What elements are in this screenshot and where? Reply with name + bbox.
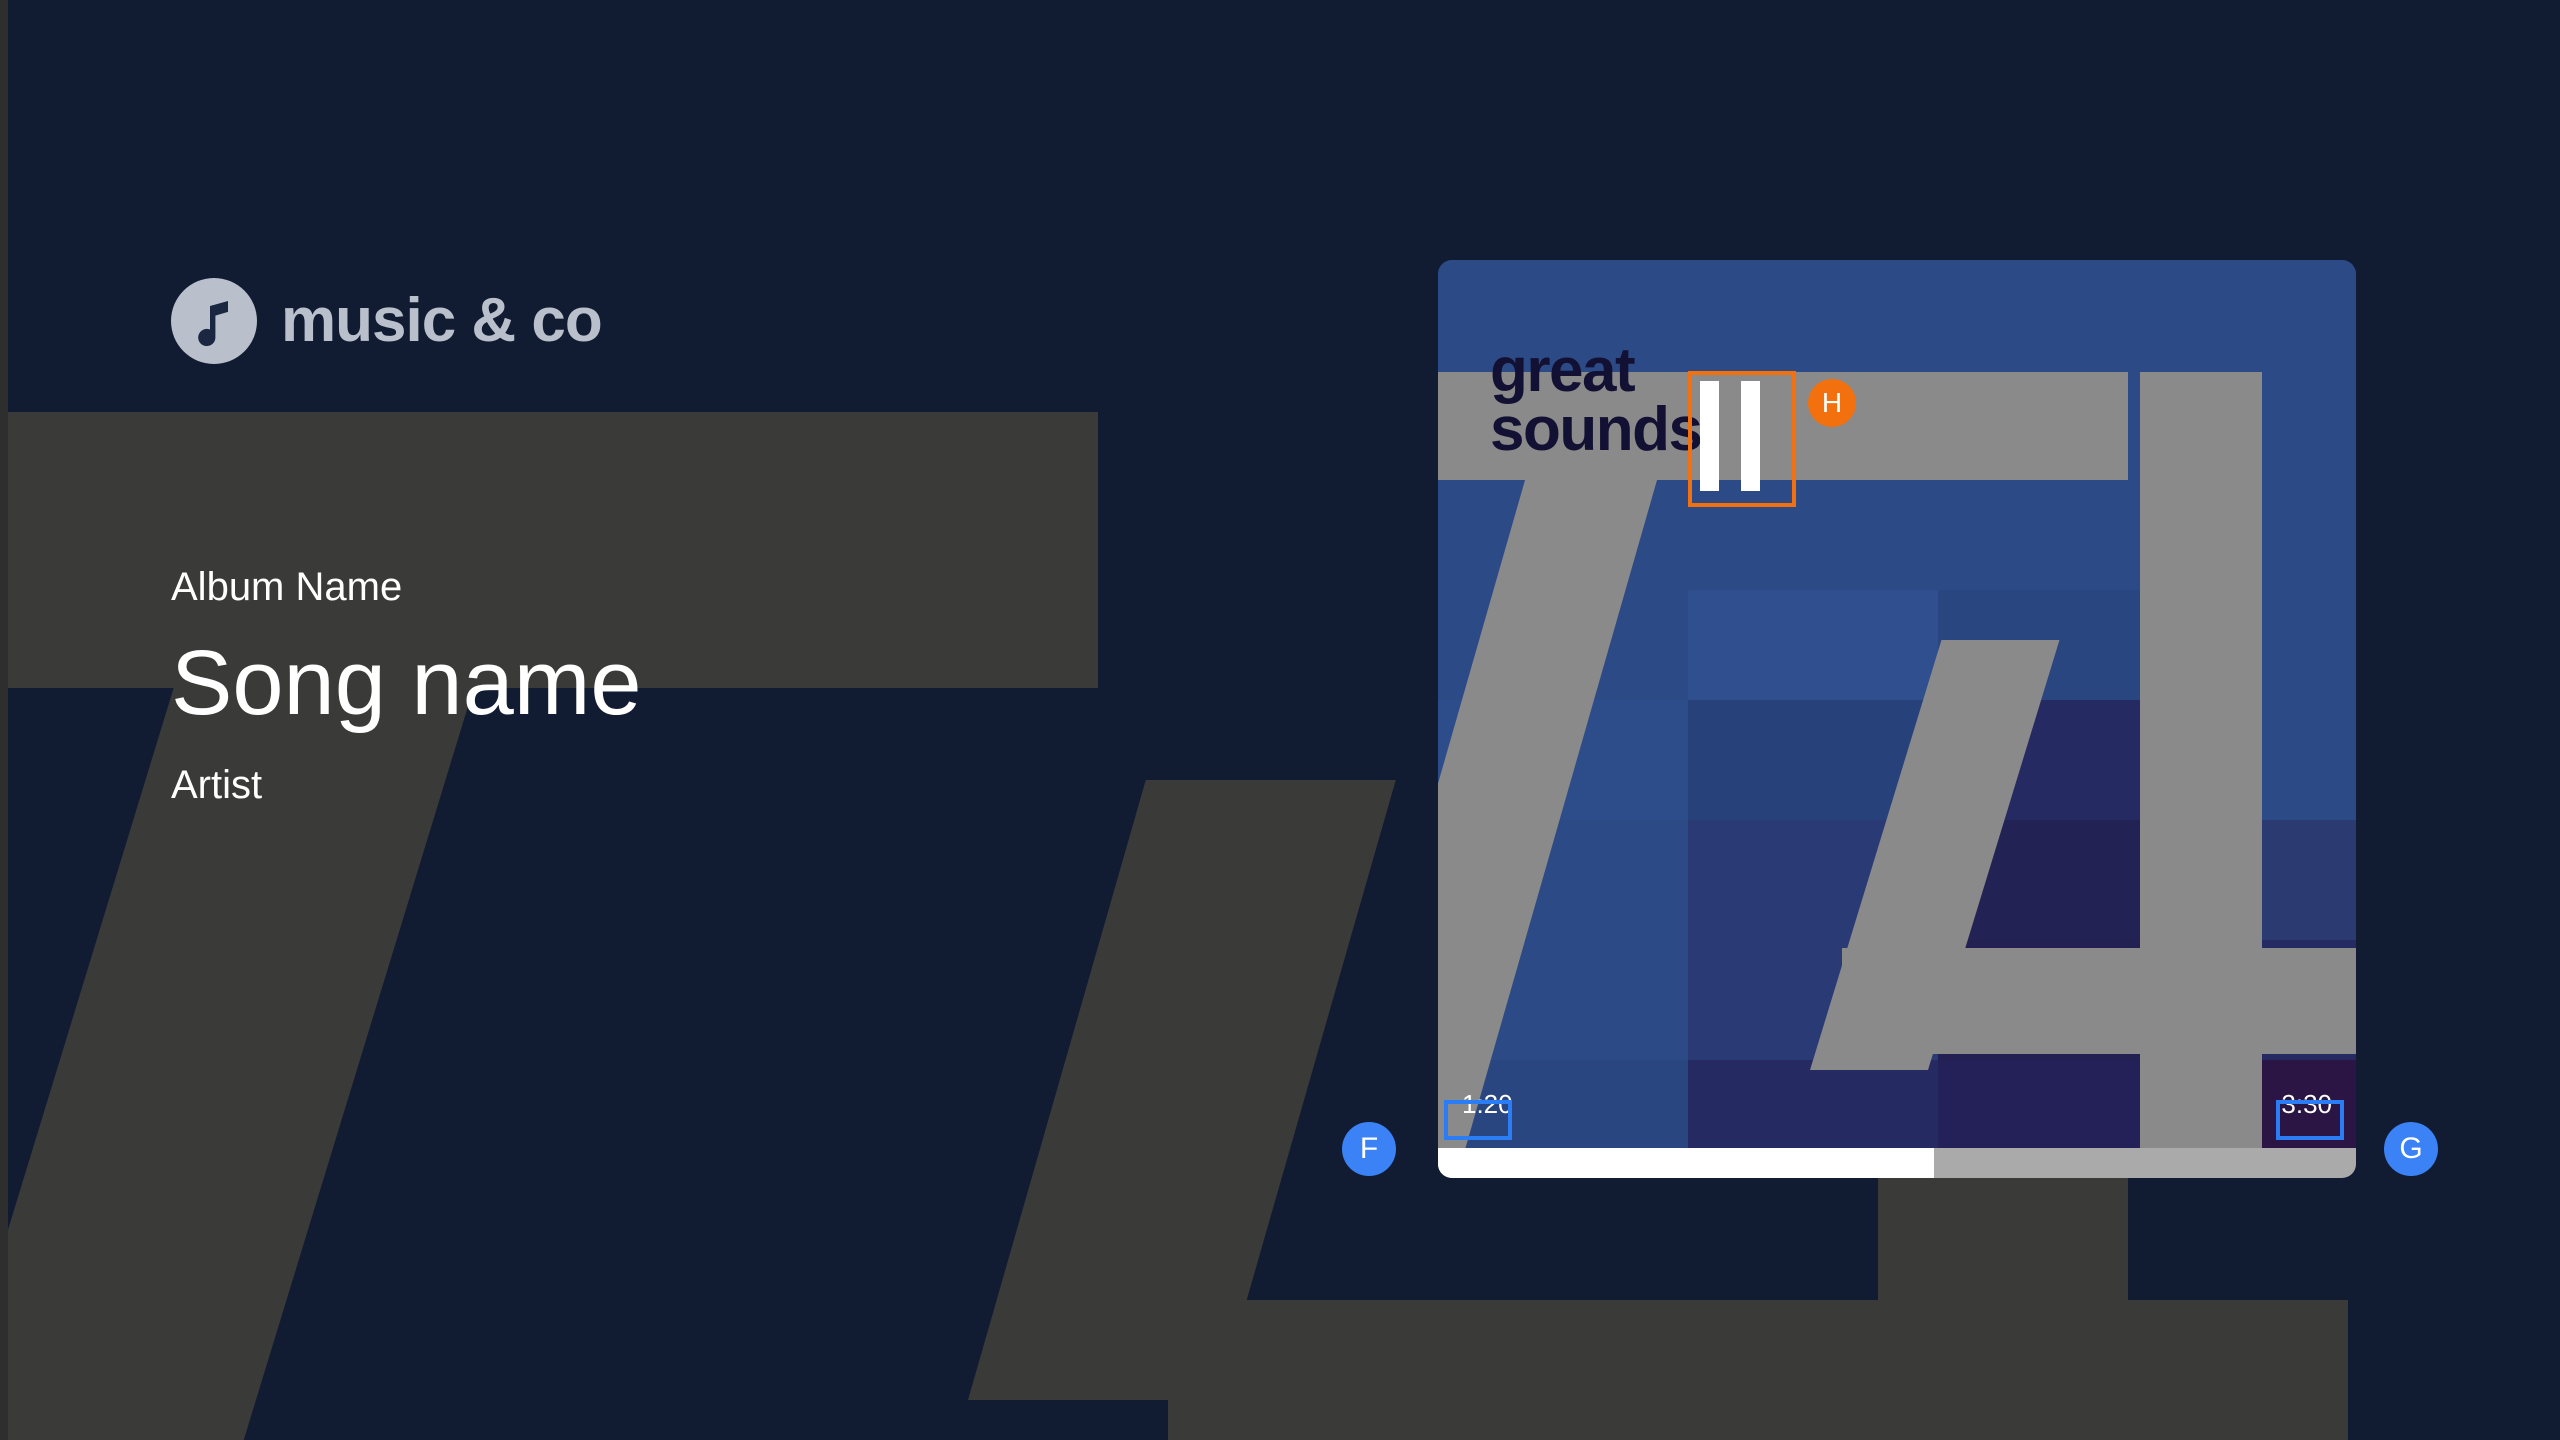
app-root: music & co Album Name Song name Artist bbox=[0, 0, 2560, 1440]
art-4-stem bbox=[2140, 372, 2262, 1178]
brand-logo[interactable]: music & co bbox=[171, 278, 602, 364]
pause-button[interactable] bbox=[1680, 372, 1780, 500]
track-meta: Album Name Song name Artist bbox=[171, 565, 642, 807]
progress-bar-fill bbox=[1438, 1148, 1934, 1178]
current-time-chip: 1:20 bbox=[1452, 1083, 1523, 1126]
progress-bar[interactable] bbox=[1438, 1148, 2356, 1178]
annotation-badge-g: G bbox=[2384, 1122, 2438, 1176]
page-background: music & co Album Name Song name Artist bbox=[8, 0, 2560, 1440]
pause-icon-second-bar bbox=[1741, 381, 1760, 491]
annotation-badge-h: H bbox=[1808, 379, 1856, 427]
artist-name: Artist bbox=[171, 763, 642, 807]
pause-icon bbox=[1700, 381, 1719, 491]
song-title: Song name bbox=[171, 631, 642, 737]
album-art-card[interactable]: great sounds. 1:20 3:30 bbox=[1438, 260, 2356, 1178]
album-name: Album Name bbox=[171, 565, 642, 609]
annotation-badge-f: F bbox=[1342, 1122, 1396, 1176]
music-note-icon bbox=[171, 278, 257, 364]
watermark-4-bar bbox=[1168, 1300, 2348, 1440]
total-time-chip: 3:30 bbox=[2271, 1083, 2342, 1126]
art-4-bar bbox=[1842, 948, 2356, 1054]
brand-name: music & co bbox=[281, 290, 602, 352]
